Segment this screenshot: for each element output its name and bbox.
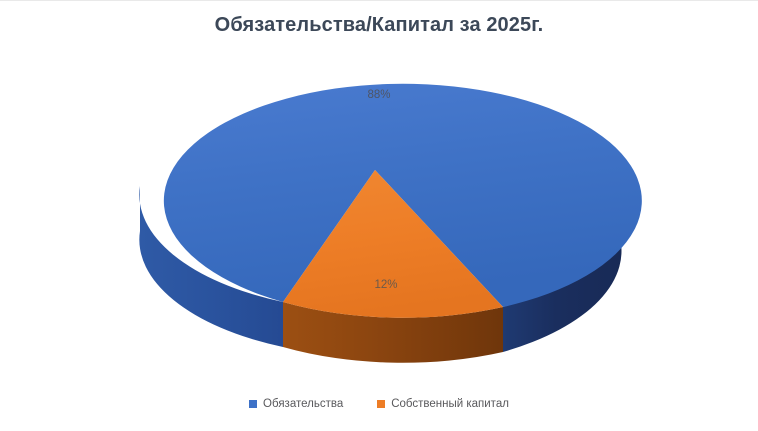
legend-item-obyazatelstva[interactable]: Обязательства	[249, 398, 343, 410]
legend-label-sobstvennyy-kapital: Собственный капитал	[391, 398, 509, 410]
legend-item-sobstvennyy-kapital[interactable]: Собственный капитал	[377, 398, 509, 410]
data-label-sobstvennyy-kapital: 12%	[374, 279, 397, 291]
legend-label-obyazatelstva: Обязательства	[263, 398, 343, 410]
pie-chart-3d	[0, 0, 758, 431]
chart-legend: Обязательства Собственный капитал	[0, 398, 758, 410]
legend-swatch-icon-sobstvennyy-kapital	[377, 400, 385, 408]
data-label-obyazatelstva: 88%	[367, 89, 390, 101]
chart-screenshot: Обязательства/Капитал за 2025г.	[0, 0, 758, 431]
legend-swatch-icon-obyazatelstva	[249, 400, 257, 408]
plot-area: 88% 12%	[0, 0, 758, 431]
